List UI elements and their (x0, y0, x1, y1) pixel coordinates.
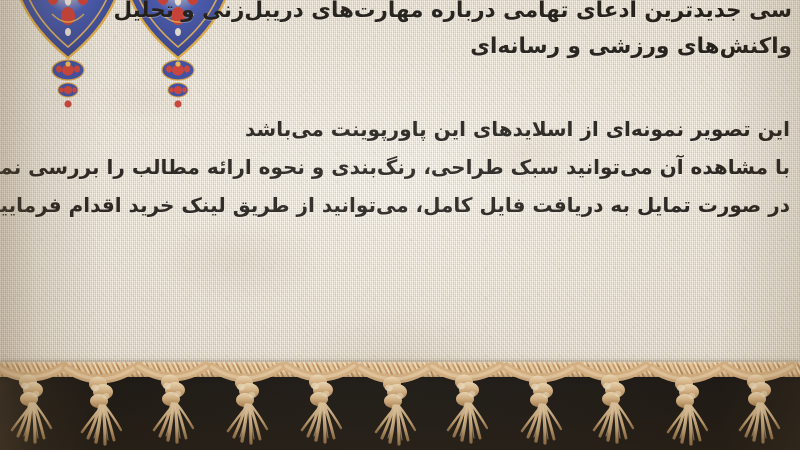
title-line-1: سی جدیدترین ادعای تهامی درباره مهارت‌های… (0, 0, 792, 29)
body-line-3: در صورت تمایل به دریافت فایل کامل، می‌تو… (2, 186, 790, 224)
slide-body: این تصویر نمونه‌ای از اسلایدهای این پاور… (2, 110, 790, 224)
title-line-2: واکنش‌های ورزشی و رسانه‌ای (0, 29, 792, 65)
slide-title: سی جدیدترین ادعای تهامی درباره مهارت‌های… (0, 0, 792, 65)
slide-canvas: سی جدیدترین ادعای تهامی درباره مهارت‌های… (0, 0, 800, 450)
body-line-1: این تصویر نمونه‌ای از اسلایدهای این پاور… (2, 110, 790, 148)
band-shadow (0, 358, 800, 372)
bottom-black-band (0, 368, 800, 450)
body-line-2: با مشاهده آن می‌توانید سبک طراحی، رنگ‌بن… (2, 148, 790, 186)
